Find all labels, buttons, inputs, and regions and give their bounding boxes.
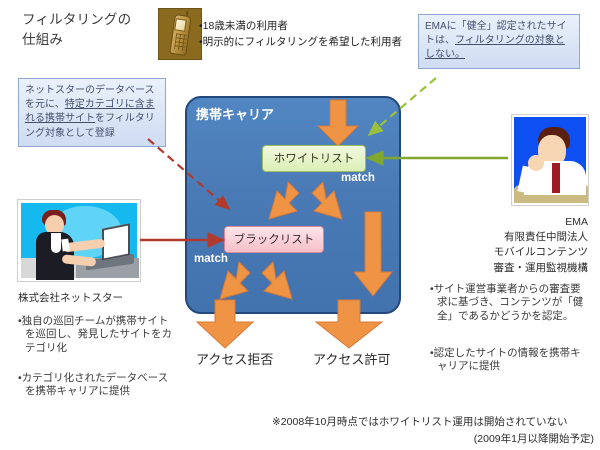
diagram-canvas: フィルタリングの 仕組み •18歳未満の利用者 •明示的にフィルタリングを希望し… <box>0 0 600 450</box>
connector-netstar-callout <box>148 139 228 208</box>
connector-ema-callout <box>370 78 436 134</box>
connector-arrows <box>0 0 600 450</box>
